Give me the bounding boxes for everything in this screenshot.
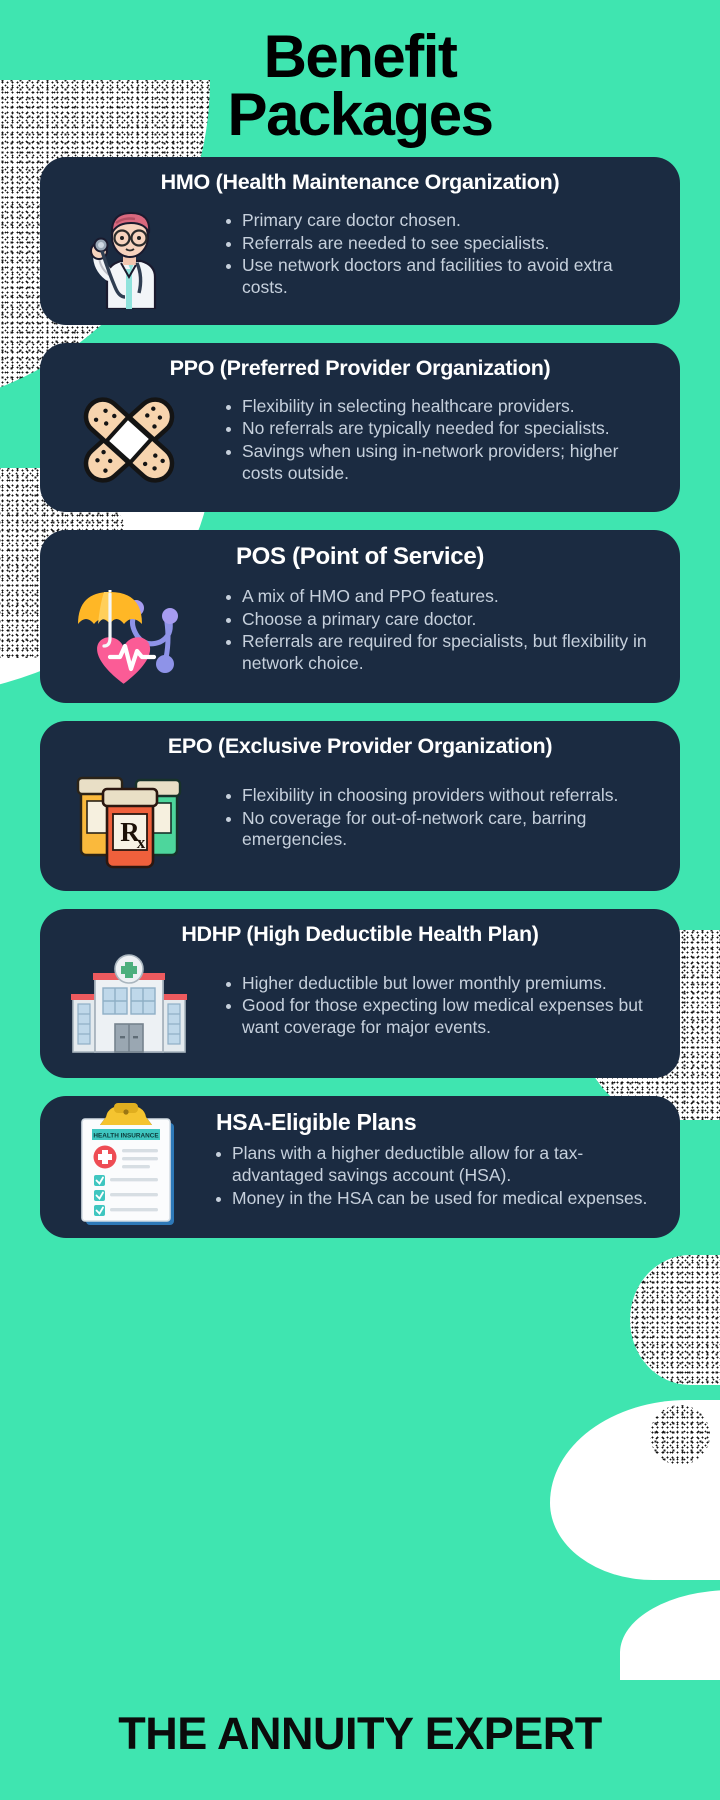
list-item: A mix of HMO and PPO features. <box>226 586 660 608</box>
benefit-card-hdhp[interactable]: HDHP (High Deductible Health Plan) <box>40 909 680 1079</box>
card-bullets-ppo: Flexibility in selecting healthcare prov… <box>208 396 660 486</box>
svg-text:x: x <box>137 833 146 852</box>
clipboard-header-label: HEALTH INSURANCE <box>93 1133 159 1140</box>
card-title-pos: POS (Point of Service) <box>60 544 660 570</box>
list-item: Use network doctors and facilities to av… <box>226 255 660 298</box>
benefit-card-pos[interactable]: POS (Point of Service) <box>40 530 680 702</box>
list-item: Higher deductible but lower monthly prem… <box>226 973 660 995</box>
list-item: No coverage for out-of-network care, bar… <box>226 808 660 851</box>
card-title-epo: EPO (Exclusive Provider Organization) <box>60 735 660 759</box>
list-item: Choose a primary care doctor. <box>226 609 660 631</box>
card-title-hsa: HSA-Eligible Plans <box>208 1110 660 1135</box>
card-bullets-epo: Flexibility in choosing providers withou… <box>208 785 660 852</box>
card-bullets-hmo: Primary care doctor chosen. Referrals ar… <box>208 210 660 300</box>
benefit-card-epo[interactable]: EPO (Exclusive Provider Organization) <box>40 721 680 891</box>
infographic-page: Benefit Packages HMO (Health Maintenance… <box>0 0 720 1800</box>
list-item: Flexibility in selecting healthcare prov… <box>226 396 660 418</box>
list-item: Referrals are needed to see specialists. <box>226 233 660 255</box>
page-title-line-2: Packages <box>40 86 680 144</box>
health-insurance-clipboard-icon: HEALTH INSURANCE <box>60 1110 198 1222</box>
card-inner-hsa: HEALTH INSURANCE <box>60 1110 660 1222</box>
card-body-hmo: Primary care doctor chosen. Referrals ar… <box>60 199 660 311</box>
hospital-building-icon <box>60 950 198 1062</box>
card-title-hmo: HMO (Health Maintenance Organization) <box>60 171 660 195</box>
card-title-hdhp: HDHP (High Deductible Health Plan) <box>60 923 660 947</box>
doctor-stethoscope-icon <box>60 199 198 311</box>
card-bullets-hsa: Plans with a higher deductible allow for… <box>208 1143 660 1209</box>
list-item: Flexibility in choosing providers withou… <box>226 785 660 807</box>
page-title: Benefit Packages <box>0 0 720 157</box>
card-title-ppo: PPO (Preferred Provider Organization) <box>60 357 660 381</box>
card-body-epo: R x Flexibility in choosing providers wi… <box>60 763 660 875</box>
list-item: Savings when using in-network providers;… <box>226 441 660 484</box>
benefit-card-hsa[interactable]: HEALTH INSURANCE <box>40 1096 680 1238</box>
card-bullets-hdhp: Higher deductible but lower monthly prem… <box>208 973 660 1040</box>
umbrella-heart-stethoscope-icon <box>60 575 198 687</box>
benefit-card-hmo[interactable]: HMO (Health Maintenance Organization) <box>40 157 680 325</box>
benefit-card-list: HMO (Health Maintenance Organization) <box>0 157 720 1674</box>
list-item: Referrals are required for specialists, … <box>226 631 660 674</box>
card-body-pos: A mix of HMO and PPO features. Choose a … <box>60 575 660 687</box>
page-title-line-1: Benefit <box>264 23 457 90</box>
card-body-ppo: Flexibility in selecting healthcare prov… <box>60 384 660 496</box>
card-bullets-pos: A mix of HMO and PPO features. Choose a … <box>208 586 660 676</box>
list-item: Good for those expecting low medical exp… <box>226 995 660 1038</box>
list-item: Primary care doctor chosen. <box>226 210 660 232</box>
brand-footer: THE ANNUITY EXPERT <box>0 1674 720 1800</box>
list-item: Money in the HSA can be used for medical… <box>216 1188 660 1210</box>
list-item: No referrals are typically needed for sp… <box>226 418 660 440</box>
benefit-card-ppo[interactable]: PPO (Preferred Provider Organization) <box>40 343 680 513</box>
crossed-bandages-icon <box>60 384 198 496</box>
prescription-pill-bottles-icon: R x <box>60 763 198 875</box>
card-body-hdhp: Higher deductible but lower monthly prem… <box>60 950 660 1062</box>
list-item: Plans with a higher deductible allow for… <box>216 1143 660 1186</box>
